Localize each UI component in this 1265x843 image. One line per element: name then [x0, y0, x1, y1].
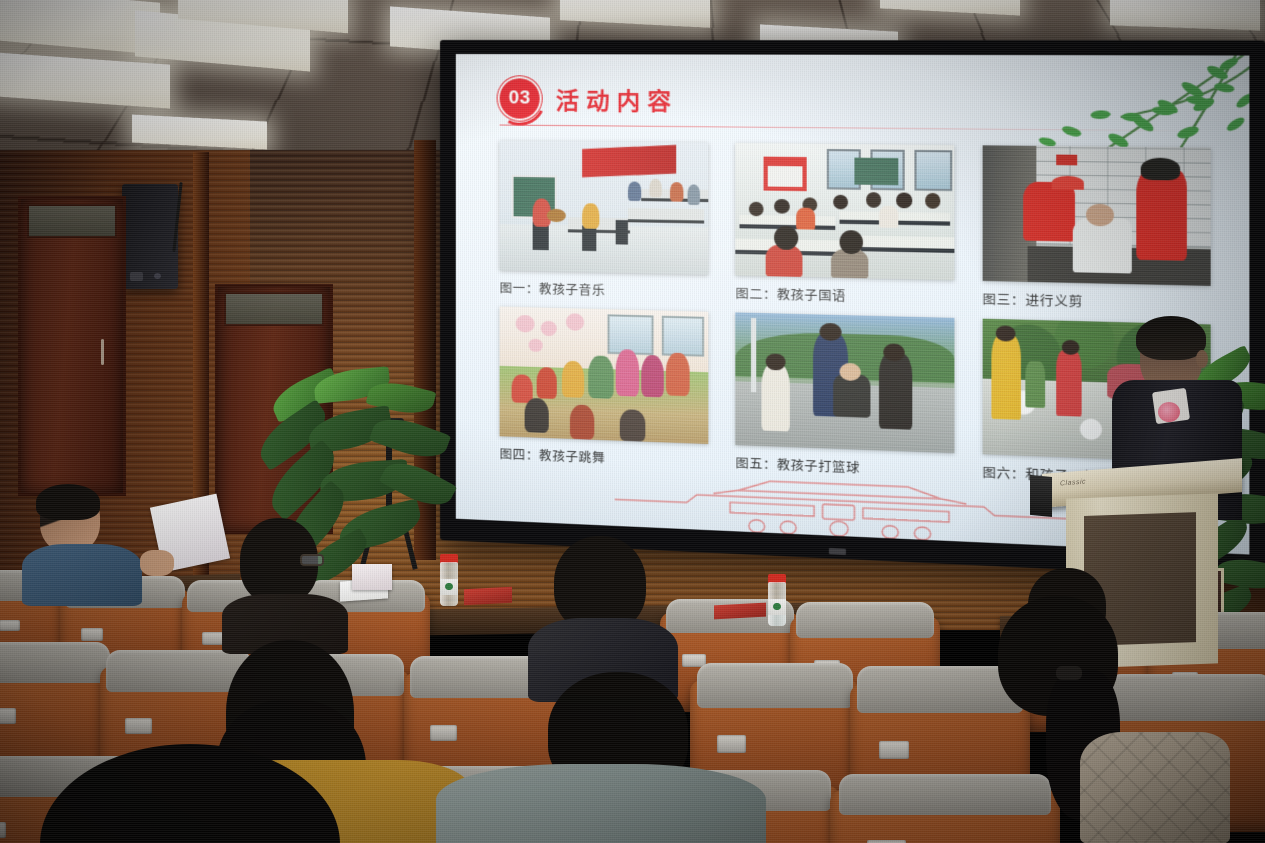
audience-woman-beige-jacket — [960, 596, 1220, 843]
person-hair — [36, 484, 100, 520]
volunteer-hair — [1141, 158, 1180, 180]
child-head — [774, 226, 798, 250]
person-head — [40, 744, 340, 843]
photo-basketball — [736, 312, 954, 453]
hoop-pole — [751, 318, 756, 392]
volunteer-barber — [1023, 181, 1075, 242]
person-hand — [140, 550, 174, 576]
photo-mandarin-class — [736, 143, 954, 280]
child-head — [749, 201, 764, 216]
volunteer-head — [820, 323, 842, 341]
bottle-label — [768, 599, 786, 615]
slide-title: 活动内容 — [556, 82, 678, 117]
child-figure — [524, 398, 549, 433]
child-figure — [761, 364, 789, 431]
child-figure — [670, 182, 683, 202]
hair-tie-icon — [1056, 666, 1082, 680]
seat-cushion — [0, 642, 110, 683]
volunteer-head — [883, 343, 905, 361]
seat-cushion — [796, 602, 934, 637]
child-body — [796, 207, 816, 229]
seat-number-plate — [81, 628, 103, 640]
child-figure — [641, 355, 664, 398]
podium-brand-mark: Classic — [1060, 478, 1086, 487]
door-transom-window — [224, 292, 324, 326]
photo-caption: 图二：教孩子国语 — [736, 283, 954, 308]
child-figure — [582, 203, 599, 229]
corsage-icon — [1158, 402, 1180, 422]
child-figure — [537, 367, 558, 399]
audience-woman-glasses — [218, 518, 348, 648]
child-head — [774, 199, 789, 214]
hoodie-body — [436, 764, 766, 843]
slide-header: 03 活动内容 — [500, 78, 679, 120]
photo-cell: 图五：教孩子打篮球 — [736, 312, 954, 480]
speaker-cone-icon — [130, 272, 143, 281]
child-figure — [666, 353, 689, 396]
photo-caption: 图三：进行义剪 — [982, 288, 1210, 314]
door-transom-window — [27, 204, 117, 238]
door-left[interactable] — [18, 196, 126, 496]
person-in-yellow — [991, 335, 1020, 420]
glasses-icon — [300, 554, 324, 566]
volunteer-standing — [1137, 169, 1188, 261]
red-folder[interactable] — [714, 603, 766, 620]
small-red-sign — [1057, 154, 1077, 165]
person-in-red — [1057, 351, 1082, 417]
child-head — [839, 230, 863, 255]
red-cap — [1052, 176, 1084, 190]
water-bottle[interactable] — [768, 574, 786, 626]
quilted-jacket — [1080, 732, 1230, 843]
red-folder[interactable] — [464, 587, 512, 606]
section-number-badge: 03 — [500, 78, 540, 119]
guitar-icon — [547, 209, 566, 222]
person-head — [996, 326, 1016, 341]
child-in-green — [1025, 361, 1045, 408]
door-handle[interactable] — [101, 339, 104, 365]
child-head — [766, 353, 785, 371]
photo-cell: 图一：教孩子音乐 — [500, 141, 709, 302]
child-body — [879, 206, 899, 228]
photo-caption: 图一：教孩子音乐 — [500, 277, 709, 301]
audience-man-blue-shirt — [22, 486, 142, 596]
presenter-ear — [1196, 350, 1208, 368]
person-torso — [22, 544, 142, 606]
seat-number-plate — [0, 708, 16, 724]
client-head — [1086, 204, 1113, 226]
seat-number-plate — [125, 718, 152, 734]
child-head — [896, 193, 911, 208]
red-banner — [582, 145, 677, 178]
window — [662, 316, 704, 357]
speaker-led-icon — [154, 273, 161, 279]
photo-cell: 图三：进行义剪 — [982, 145, 1210, 313]
badge-arc-decoration-icon — [487, 67, 553, 133]
photo-cell: 图二：教孩子国语 — [736, 143, 954, 308]
child-head — [833, 195, 848, 210]
seat-number-plate — [0, 620, 20, 632]
child-figure — [620, 409, 645, 441]
water-bottle[interactable] — [440, 554, 458, 606]
child-figure — [561, 360, 584, 397]
photo-children-dancing — [500, 307, 709, 445]
photo-free-haircut — [982, 145, 1210, 286]
conference-hall-scene: 03 活动内容 — [0, 0, 1265, 843]
seat-number-plate — [0, 822, 6, 838]
child-figure — [588, 356, 613, 399]
bottle-label — [440, 579, 458, 595]
bulletin-board — [764, 156, 807, 191]
wall-loudspeaker — [122, 184, 178, 289]
tissue-box — [352, 564, 392, 590]
photo-caption: 图四：教孩子跳舞 — [500, 443, 709, 470]
child-head — [866, 192, 881, 207]
chalkboard — [855, 157, 899, 184]
ceiling-light-panel — [1110, 0, 1260, 31]
child-figure — [570, 405, 595, 440]
audience-person-grey-hoodie — [436, 672, 766, 843]
audience-person-front-left — [40, 744, 340, 843]
volunteer-right — [879, 354, 912, 430]
person-head — [1061, 340, 1079, 356]
child-figure — [687, 185, 700, 205]
photo-grid: 图一：教孩子音乐 — [500, 141, 1211, 491]
photo-music-class — [500, 141, 709, 275]
seat-number-plate — [879, 741, 910, 759]
child-figure — [616, 349, 639, 397]
child-figure — [649, 179, 662, 198]
photo-cell: 图四：教孩子跳舞 — [500, 307, 709, 471]
child-head — [925, 193, 941, 208]
presenter-hair — [1136, 316, 1206, 360]
child-figure — [628, 181, 641, 201]
